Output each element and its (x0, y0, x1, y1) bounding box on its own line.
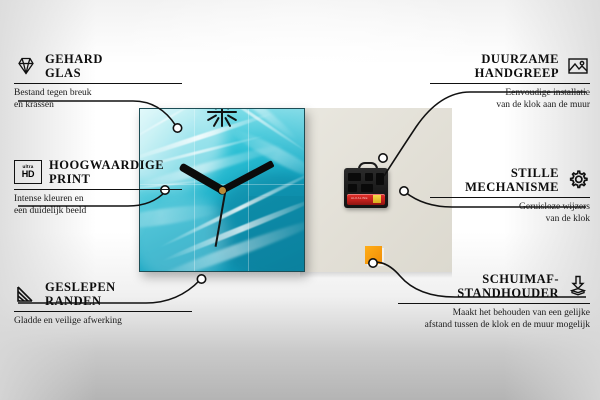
feature-divider (430, 83, 590, 84)
feature-desc-line2: een duidelijk beeld (14, 206, 182, 218)
feature-duurzame-handgreep: DUURZAME HANDGREEP Eenvoudige installati… (430, 52, 590, 111)
mechanism-battery: ALKALINE (347, 194, 385, 205)
picture-frame-icon (566, 54, 590, 78)
feature-title-line2: GLAS (45, 66, 103, 80)
feature-desc-line2: en krassen (14, 100, 182, 112)
feature-geslepen-randen: GESLEPEN RANDEN Gladde en veilige afwerk… (14, 280, 192, 328)
feature-title-line1: HOOGWAARDIGE (49, 158, 164, 172)
battery-label: ALKALINE (351, 196, 368, 200)
feature-title-line2: HANDGREEP (475, 66, 559, 80)
feature-title-line2: MECHANISME (465, 180, 559, 194)
feature-desc-line1: Geruisloze wijzers (430, 202, 590, 214)
feature-divider (398, 303, 590, 304)
feature-desc-line1: Bestand tegen breuk (14, 88, 182, 100)
feature-title-line1: STILLE (465, 166, 559, 180)
ultra-hd-icon: ultra HD (14, 160, 42, 184)
feature-stille-mechanisme: STILLE MECHANISME Geruisloze wijzers van… (430, 166, 590, 225)
feature-desc-line1: Gladde en veilige afwerking (14, 316, 192, 328)
stamp-down-arrow-icon (566, 274, 590, 298)
product-infographic: ALKALINE (0, 0, 600, 400)
clock-tick (222, 111, 237, 113)
feature-title-line1: GESLEPEN (45, 280, 116, 294)
foam-spacer (365, 246, 382, 264)
clock-mechanism: ALKALINE (344, 168, 388, 208)
feature-desc-line2: van de klok aan de muur (430, 100, 590, 112)
bevelled-edges-icon (14, 282, 38, 306)
ultra-hd-icon-main-label: HD (22, 170, 35, 179)
mechanism-body: ALKALINE (344, 168, 388, 208)
clock-tick (207, 111, 222, 113)
feature-title-line2: STANDHOUDER (457, 286, 559, 300)
feature-divider (14, 311, 192, 312)
feature-schuimaf-standhouder: SCHUIMAF- STANDHOUDER Maakt het behouden… (398, 272, 590, 331)
feature-gehard-glas: GEHARD GLAS Bestand tegen breuk en krass… (14, 52, 182, 111)
feature-desc-line1: Eenvoudige installatie (430, 88, 590, 100)
feature-title-line2: RANDEN (45, 294, 116, 308)
feature-divider (14, 83, 182, 84)
clock-center-hub (219, 187, 226, 194)
feature-title-line2: PRINT (49, 172, 164, 186)
feature-desc-line1: Intense kleuren en (14, 194, 182, 206)
feature-title-line1: GEHARD (45, 52, 103, 66)
feature-title-line1: DUURZAME (475, 52, 559, 66)
feature-desc-line1: Maakt het behouden van een gelijke (398, 308, 590, 320)
clock-tick (221, 112, 223, 127)
clock-tick (227, 108, 238, 110)
diamond-icon (14, 54, 38, 78)
gear-icon (566, 168, 590, 192)
feature-divider (430, 197, 590, 198)
feature-desc-line2: afstand tussen de klok en de muur mogeli… (398, 320, 590, 332)
feature-title-line1: SCHUIMAF- (457, 272, 559, 286)
feature-divider (14, 189, 182, 190)
feature-desc-line2: van de klok (430, 214, 590, 226)
battery-plus-terminal (373, 195, 381, 203)
feature-hoogwaardige-print: ultra HD HOOGWAARDIGE PRINT Intense kleu… (14, 158, 182, 217)
